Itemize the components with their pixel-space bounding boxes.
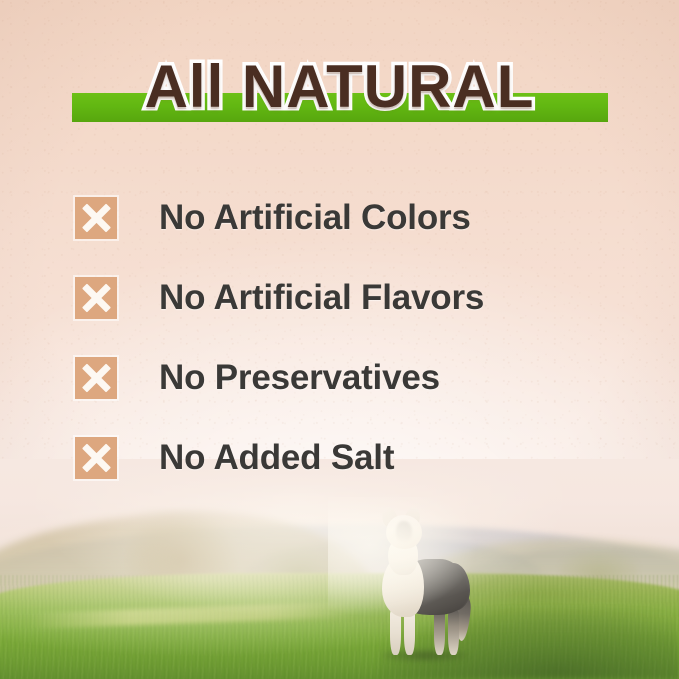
benefit-label: No Added Salt [159,438,394,478]
benefit-row: No Preservatives [75,338,639,418]
x-mark-icon [75,197,117,239]
dog-face-marking [396,521,412,543]
benefit-label: No Preservatives [159,358,440,398]
headline-block: All NATURAL [0,52,679,134]
benefit-row: No Artificial Flavors [75,258,639,338]
benefit-row: No Added Salt [75,418,639,498]
x-mark-icon [75,357,117,399]
x-mark-icon [75,277,117,319]
dog-back-leg-right [448,609,459,655]
x-mark-icon [75,437,117,479]
benefit-list: No Artificial Colors No Artificial Flavo… [75,178,639,498]
dog-photo-subject [352,511,484,661]
benefit-label: No Artificial Colors [159,198,471,238]
benefit-row: No Artificial Colors [75,178,639,258]
product-feature-poster: All NATURAL No Artificial Colors No Arti… [0,0,679,679]
benefit-label: No Artificial Flavors [159,278,484,318]
headline-text: All NATURAL [0,52,679,122]
